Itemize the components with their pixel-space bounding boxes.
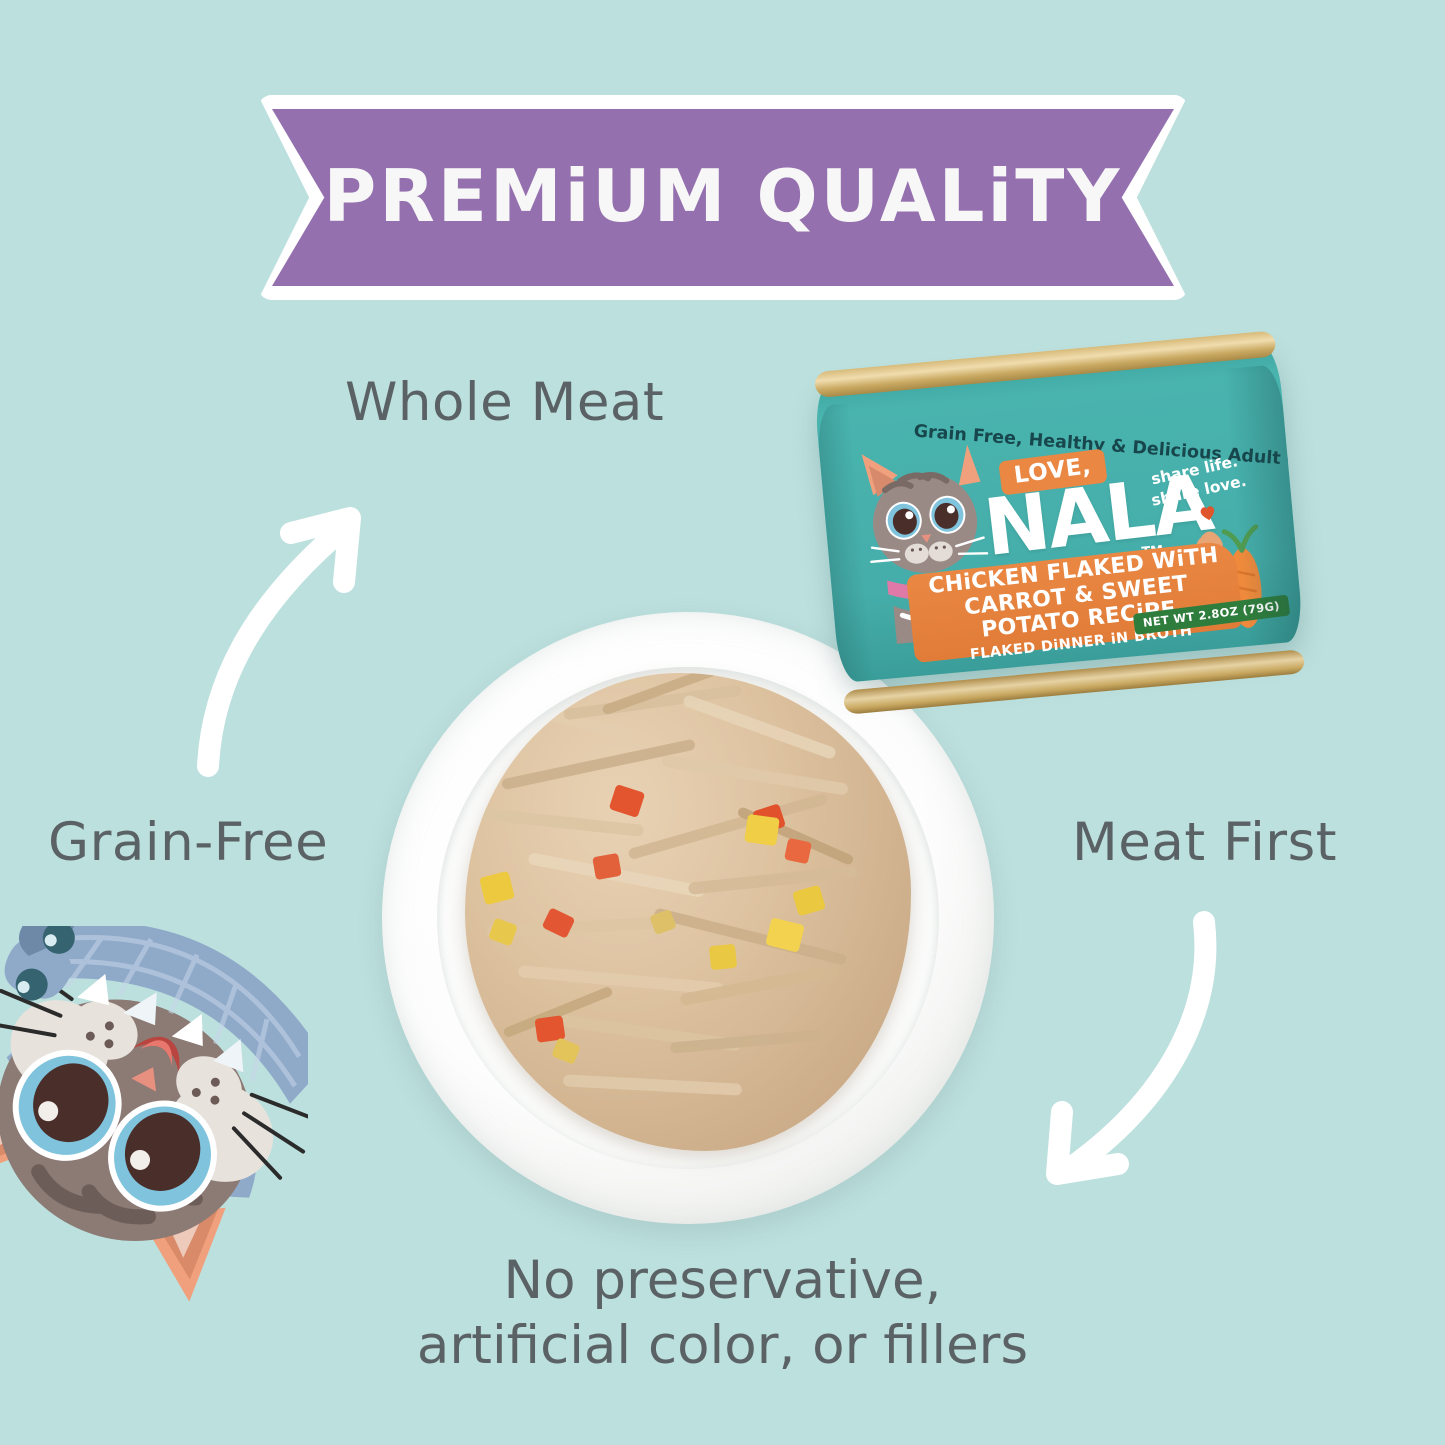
feature-label-whole-meat: Whole Meat — [345, 372, 664, 433]
sweet-potato-piece — [480, 870, 516, 904]
carrot-piece — [609, 784, 646, 818]
curved-arrow-up-right-icon — [178, 478, 408, 778]
can-label-body: Grain Free, Healthy & Delicious Adult Ca… — [813, 342, 1304, 683]
sweet-potato-piece — [488, 918, 518, 947]
corner-cat-mascot-icon — [0, 926, 308, 1326]
curved-arrow-down-left-icon — [1000, 898, 1250, 1208]
carrot-piece — [592, 852, 622, 879]
banner-title: PREMiUM QUALiTY — [324, 160, 1123, 232]
feature-label-grain-free: Grain-Free — [48, 812, 328, 873]
sweet-potato-piece — [792, 885, 826, 917]
sweet-potato-piece — [766, 918, 806, 953]
banner-fill: PREMiUM QUALiTY — [272, 109, 1174, 286]
premium-quality-banner: PREMiUM QUALiTY — [258, 95, 1188, 300]
sweet-potato-piece — [709, 944, 737, 971]
product-can: Grain Free, Healthy & Delicious Adult Ca… — [811, 319, 1321, 713]
sweet-potato-piece — [551, 1037, 581, 1065]
feature-label-meat-first: Meat First — [1072, 812, 1337, 873]
carrot-piece — [784, 838, 812, 865]
infographic-canvas: PREMiUM QUALiTY Whole Meat Grain-Free Me… — [0, 0, 1445, 1445]
sweet-potato-piece — [744, 814, 780, 846]
